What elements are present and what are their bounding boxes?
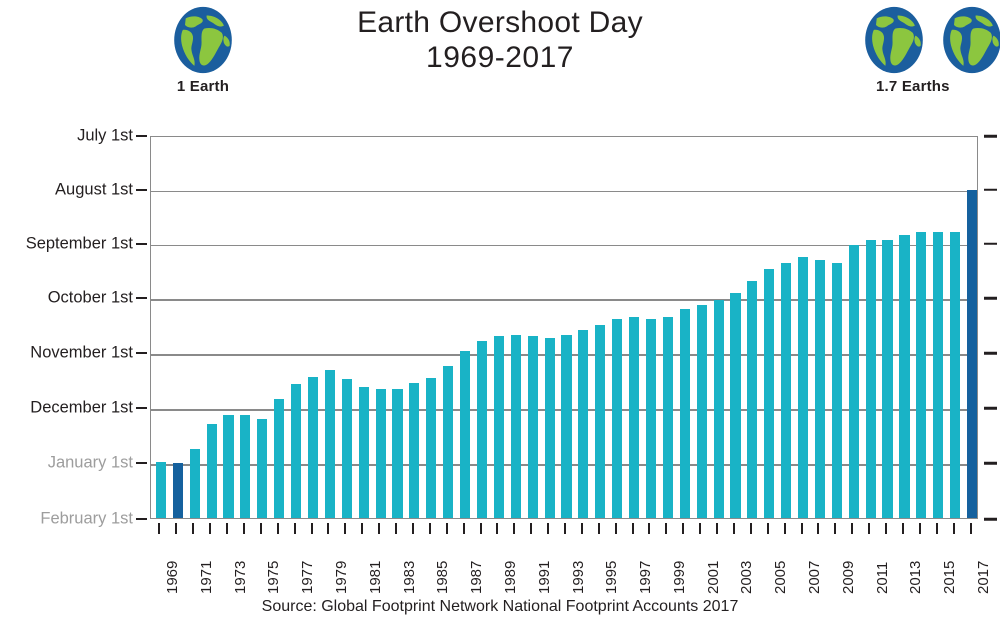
bar-1984	[409, 383, 419, 518]
x-axis-tick	[919, 523, 921, 534]
x-axis-label: 1981	[367, 538, 384, 594]
x-axis-ticks	[150, 523, 978, 535]
x-axis-label: 1985	[434, 538, 451, 594]
y-axis-tick	[136, 243, 147, 245]
x-axis-tick	[767, 523, 769, 534]
bar-2013	[899, 235, 909, 518]
bar-1989	[494, 336, 504, 518]
x-axis-label: 1975	[265, 538, 282, 594]
y-axis-tick	[984, 518, 997, 521]
x-axis-label: 1971	[198, 538, 215, 594]
x-axis-tick	[801, 523, 803, 534]
y-axis-tick	[984, 243, 997, 246]
x-axis-label: 2011	[874, 538, 891, 594]
x-axis-label: 1977	[299, 538, 316, 594]
x-axis-tick	[378, 523, 380, 534]
bar-1979	[325, 370, 335, 518]
bar-2010	[849, 245, 859, 518]
x-axis-label: 2009	[840, 538, 857, 594]
bar-1981	[359, 387, 369, 518]
y-axis-label: July 1st	[77, 127, 133, 146]
y-axis-tick	[984, 135, 997, 138]
bar-2005	[764, 269, 774, 518]
bar-1996	[612, 319, 622, 518]
bar-1992	[545, 338, 555, 518]
bar-1993	[561, 335, 571, 518]
bar-1969	[156, 462, 166, 518]
y-axis-tick	[984, 189, 997, 192]
x-axis-tick	[260, 523, 262, 534]
x-axis-label: 1991	[536, 538, 553, 594]
bar-2003	[730, 293, 740, 518]
bar-2016	[950, 232, 960, 518]
x-axis-label: 2007	[806, 538, 823, 594]
y-axis-label: October 1st	[48, 289, 133, 308]
bar-1978	[308, 377, 318, 518]
y-axis-tick	[136, 297, 147, 299]
bar-1976	[274, 399, 284, 518]
x-axis-label: 1979	[333, 538, 350, 594]
bar-2015	[933, 232, 943, 518]
x-axis-tick	[209, 523, 211, 534]
y-axis-label: September 1st	[26, 234, 133, 253]
y-axis-label: January 1st	[48, 454, 133, 473]
x-axis-tick	[480, 523, 482, 534]
y-axis-label: February 1st	[40, 510, 133, 529]
bar-1975	[257, 419, 267, 518]
x-axis-label: 1999	[671, 538, 688, 594]
bar-1986	[443, 366, 453, 518]
x-axis-tick	[851, 523, 853, 534]
bar-2004	[747, 281, 757, 518]
source-caption: Source: Global Footprint Network Nationa…	[0, 598, 1000, 616]
y-axis-tick	[136, 462, 147, 464]
bar-2006	[781, 263, 791, 518]
bar-1971	[190, 449, 200, 518]
bar-2008	[815, 260, 825, 518]
x-axis-label: 2003	[738, 538, 755, 594]
bar-1987	[460, 351, 470, 518]
x-axis-tick	[327, 523, 329, 534]
y-axis-tick	[136, 352, 147, 354]
x-axis-tick	[615, 523, 617, 534]
x-axis-tick	[953, 523, 955, 534]
x-axis-label: 1973	[232, 538, 249, 594]
y-axis-tick	[984, 297, 997, 300]
x-axis-tick	[361, 523, 363, 534]
y-axis-tick	[984, 462, 997, 465]
x-axis-tick	[429, 523, 431, 534]
x-axis-tick	[344, 523, 346, 534]
x-axis-tick	[716, 523, 718, 534]
bar-1998	[646, 319, 656, 518]
bar-2001	[697, 305, 707, 518]
x-axis-label: 1997	[637, 538, 654, 594]
bar-2000	[680, 309, 690, 518]
x-axis-label: 1989	[502, 538, 519, 594]
y-axis-tick	[984, 407, 997, 410]
bar-1985	[426, 378, 436, 518]
x-axis-tick	[158, 523, 160, 534]
bar-1972	[207, 424, 217, 518]
x-axis-tick	[632, 523, 634, 534]
x-axis-tick	[226, 523, 228, 534]
bar-1988	[477, 341, 487, 518]
x-axis-tick	[665, 523, 667, 534]
x-axis-label: 1995	[603, 538, 620, 594]
bar-1973	[223, 415, 233, 518]
x-axis-tick	[784, 523, 786, 534]
x-axis-label: 1987	[468, 538, 485, 594]
x-axis-label: 1969	[164, 538, 181, 594]
x-axis-tick	[834, 523, 836, 534]
x-axis-tick	[699, 523, 701, 534]
x-axis-label: 2013	[907, 538, 924, 594]
y-axis-tick	[136, 135, 147, 137]
x-axis-tick	[750, 523, 752, 534]
x-axis-label: 1983	[401, 538, 418, 594]
bar-2011	[866, 240, 876, 518]
x-axis-tick	[581, 523, 583, 534]
bar-2007	[798, 257, 808, 518]
x-axis-tick	[463, 523, 465, 534]
bar-1983	[392, 389, 402, 518]
x-axis-tick	[682, 523, 684, 534]
bar-2012	[882, 240, 892, 518]
x-axis-tick	[513, 523, 515, 534]
bar-2009	[832, 263, 842, 518]
x-axis-tick	[868, 523, 870, 534]
bar-2002	[714, 300, 724, 518]
x-axis-tick	[175, 523, 177, 534]
x-axis-tick	[412, 523, 414, 534]
x-axis-tick	[395, 523, 397, 534]
x-axis-tick	[885, 523, 887, 534]
y-axis-tick	[984, 352, 997, 355]
overshoot-day-bar-chart: July 1stAugust 1stSeptember 1stOctober 1…	[0, 0, 1000, 627]
x-axis-label: 2001	[705, 538, 722, 594]
x-axis-tick	[733, 523, 735, 534]
bar-1974	[240, 415, 250, 518]
y-axis-tick	[136, 518, 147, 520]
x-axis-tick	[277, 523, 279, 534]
x-axis-tick	[648, 523, 650, 534]
x-axis-tick	[902, 523, 904, 534]
bar-1994	[578, 330, 588, 518]
x-axis-label: 1993	[570, 538, 587, 594]
x-axis-tick	[311, 523, 313, 534]
x-axis-tick	[294, 523, 296, 534]
x-axis-tick	[243, 523, 245, 534]
x-axis-tick	[446, 523, 448, 534]
x-axis-tick	[192, 523, 194, 534]
x-axis-label: 2017	[975, 538, 992, 594]
bar-2014	[916, 232, 926, 518]
y-axis-label: December 1st	[30, 399, 133, 418]
x-axis-tick	[530, 523, 532, 534]
x-axis-tick	[817, 523, 819, 534]
plot-area	[150, 136, 978, 519]
y-axis-label: August 1st	[55, 180, 133, 199]
x-axis-tick	[598, 523, 600, 534]
x-axis-tick	[564, 523, 566, 534]
bar-1999	[663, 317, 673, 518]
x-axis-labels: 1969197119731975197719791981198319851987…	[150, 538, 978, 596]
bar-1990	[511, 335, 521, 518]
x-axis-label: 2005	[772, 538, 789, 594]
x-axis-tick	[936, 523, 938, 534]
bar-1995	[595, 325, 605, 518]
y-axis-labels: July 1stAugust 1stSeptember 1stOctober 1…	[0, 0, 133, 627]
bar-1997	[629, 317, 639, 518]
y-axis-tick	[136, 189, 147, 191]
x-axis-label: 2015	[941, 538, 958, 594]
bar-1977	[291, 384, 301, 518]
x-axis-tick	[496, 523, 498, 534]
x-axis-tick	[547, 523, 549, 534]
bar-2017	[967, 190, 977, 518]
bar-series	[151, 137, 977, 518]
x-axis-tick	[970, 523, 972, 534]
bar-1991	[528, 336, 538, 518]
bar-1982	[376, 389, 386, 518]
bar-1980	[342, 379, 352, 518]
y-axis-tick	[136, 407, 147, 409]
y-axis-label: November 1st	[30, 344, 133, 363]
bar-1970	[173, 463, 183, 518]
